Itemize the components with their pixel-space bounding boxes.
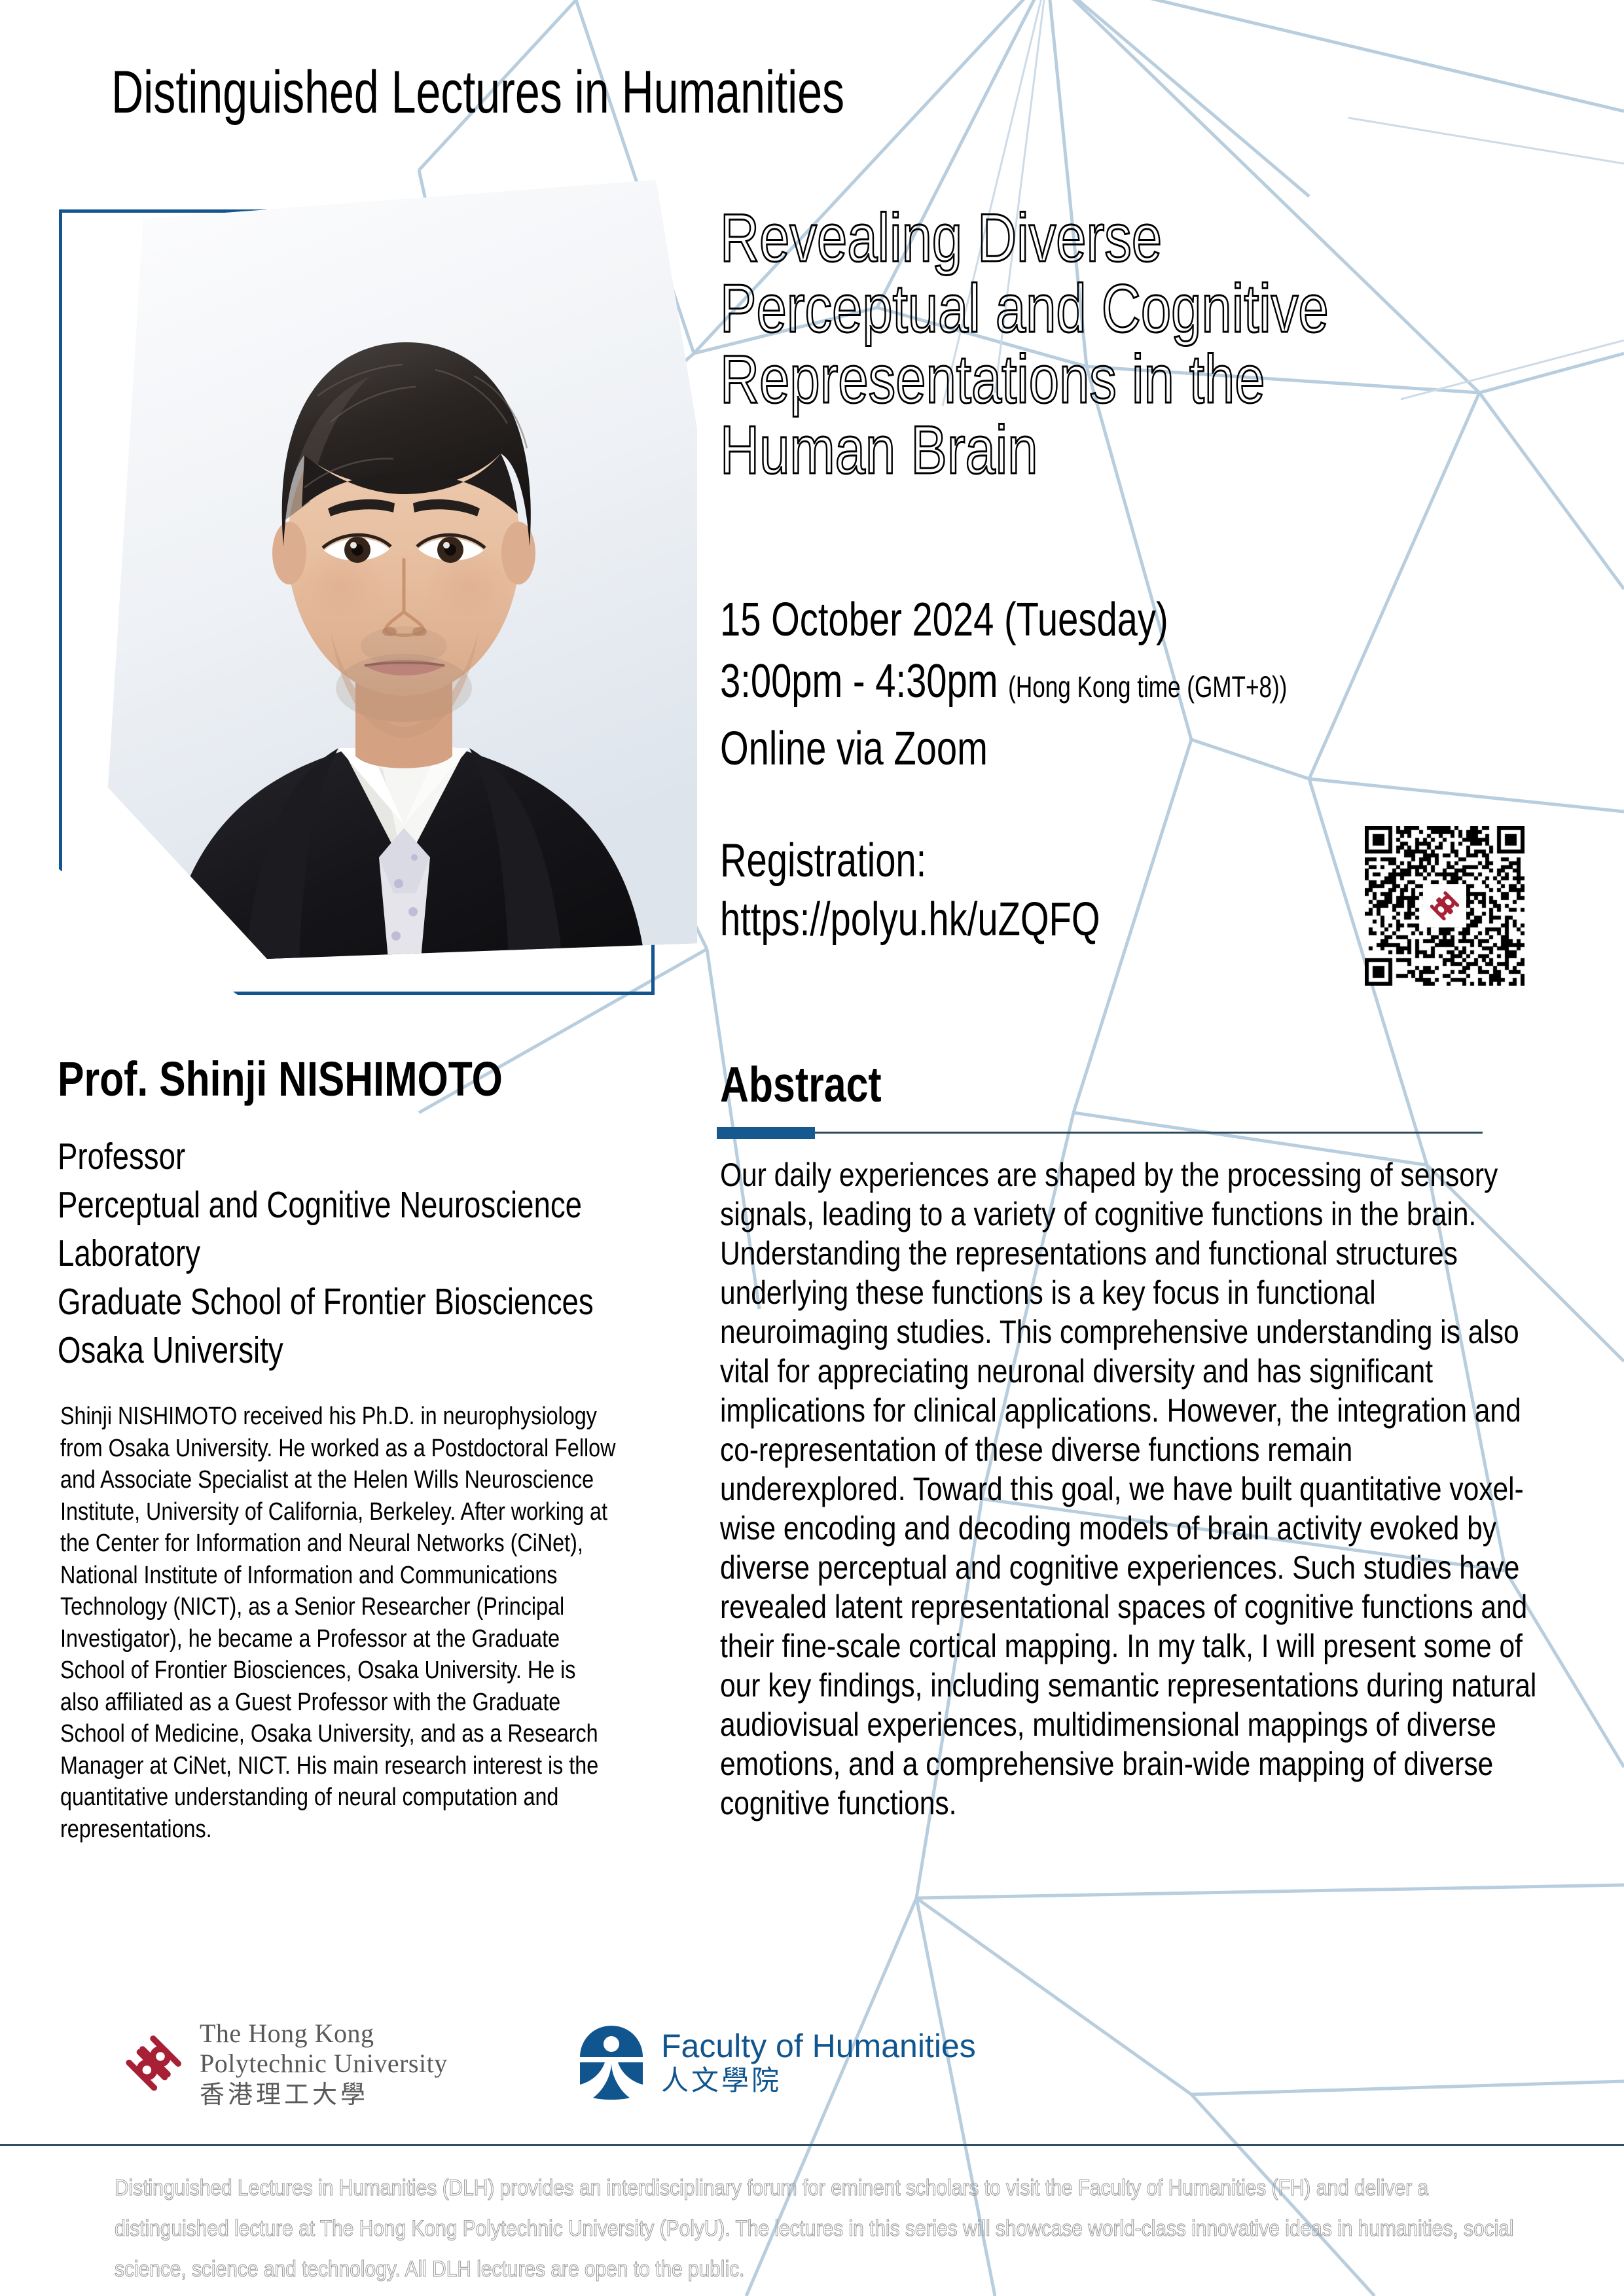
speaker-photo-block: [39, 173, 700, 1070]
speaker-affiliation: Professor Perceptual and Cognitive Neuro…: [58, 1132, 712, 1374]
registration-label: Registration:: [720, 831, 1231, 890]
abstract-divider: [717, 1127, 1483, 1139]
lecture-time-row: 3:00pm - 4:30pm (Hong Kong time (GMT+8)): [720, 651, 1399, 718]
lecture-time: 3:00pm - 4:30pm: [720, 655, 998, 708]
affiliation-line-3: Laboratory: [58, 1229, 581, 1278]
polyu-knot-icon: [118, 2024, 187, 2106]
affiliation-line-1: Professor: [58, 1132, 581, 1181]
polyu-name-chinese: 香港理工大學: [200, 2079, 448, 2109]
lecture-title-line-2: Perceptual and Cognitive: [720, 274, 1416, 344]
faculty-person-icon: [576, 2024, 647, 2100]
lecture-title-line-1: Revealing Diverse: [720, 203, 1416, 274]
polyu-logo-icon: [1423, 884, 1466, 927]
lecture-title-line-4: Human Brain: [720, 415, 1416, 486]
abstract-heading: Abstract: [720, 1060, 882, 1110]
footer-note-text: Distinguished Lectures in Humanities (DL…: [115, 2168, 1526, 2289]
faculty-name-english: Faculty of Humanities: [661, 2028, 976, 2064]
speaker-bio-text: Shinji NISHIMOTO received his Ph.D. in n…: [60, 1401, 619, 1845]
faculty-logo-text: Faculty of Humanities 人文學院: [661, 2028, 976, 2097]
lecture-timezone: (Hong Kong time (GMT+8)): [1008, 670, 1287, 704]
polyu-logo-text: The Hong Kong Polytechnic University 香港理…: [200, 2019, 448, 2109]
poster-root: Distinguished Lectures in Humanities: [0, 0, 1624, 2296]
polyu-logo: The Hong Kong Polytechnic University 香港理…: [118, 2019, 448, 2109]
speaker-portrait-image: [108, 180, 697, 959]
speaker-bio: Shinji NISHIMOTO received his Ph.D. in n…: [60, 1401, 620, 1845]
series-header: Distinguished Lectures in Humanities: [111, 62, 844, 122]
faculty-of-humanities-logo: Faculty of Humanities 人文學院: [576, 2024, 976, 2100]
footer-note: Distinguished Lectures in Humanities (DL…: [115, 2168, 1528, 2289]
speaker-name: Prof. Shinji NISHIMOTO: [58, 1055, 503, 1103]
lecture-title: Revealing Diverse Perceptual and Cogniti…: [720, 203, 1591, 486]
abstract-divider-line: [815, 1132, 1483, 1134]
lecture-title-line-3: Representations in the: [720, 344, 1416, 415]
abstract-body-text: Our daily experiences are shaped by the …: [720, 1155, 1542, 1823]
registration-block: Registration: https://polyu.hk/uZQFQ: [720, 831, 1375, 949]
lecture-datetime-block: 15 October 2024 (Tuesday) 3:00pm - 4:30p…: [720, 589, 1591, 780]
abstract-divider-accent: [717, 1127, 815, 1139]
faculty-name-chinese: 人文學院: [661, 2064, 976, 2097]
qr-code[interactable]: [1365, 826, 1525, 986]
registration-url[interactable]: https://polyu.hk/uZQFQ: [720, 890, 1231, 949]
lecture-venue: Online via Zoom: [720, 718, 1399, 780]
lecture-date: 15 October 2024 (Tuesday): [720, 589, 1399, 651]
polyu-name-line-1: The Hong Kong: [200, 2019, 448, 2048]
footer-divider: [0, 2144, 1624, 2146]
abstract-body: Our daily experiences are shaped by the …: [720, 1155, 1542, 1823]
affiliation-line-4: Graduate School of Frontier Biosciences: [58, 1278, 581, 1326]
polyu-name-line-2: Polytechnic University: [200, 2049, 448, 2078]
affiliation-line-2: Perceptual and Cognitive Neuroscience: [58, 1181, 581, 1229]
affiliation-line-5: Osaka University: [58, 1326, 581, 1374]
